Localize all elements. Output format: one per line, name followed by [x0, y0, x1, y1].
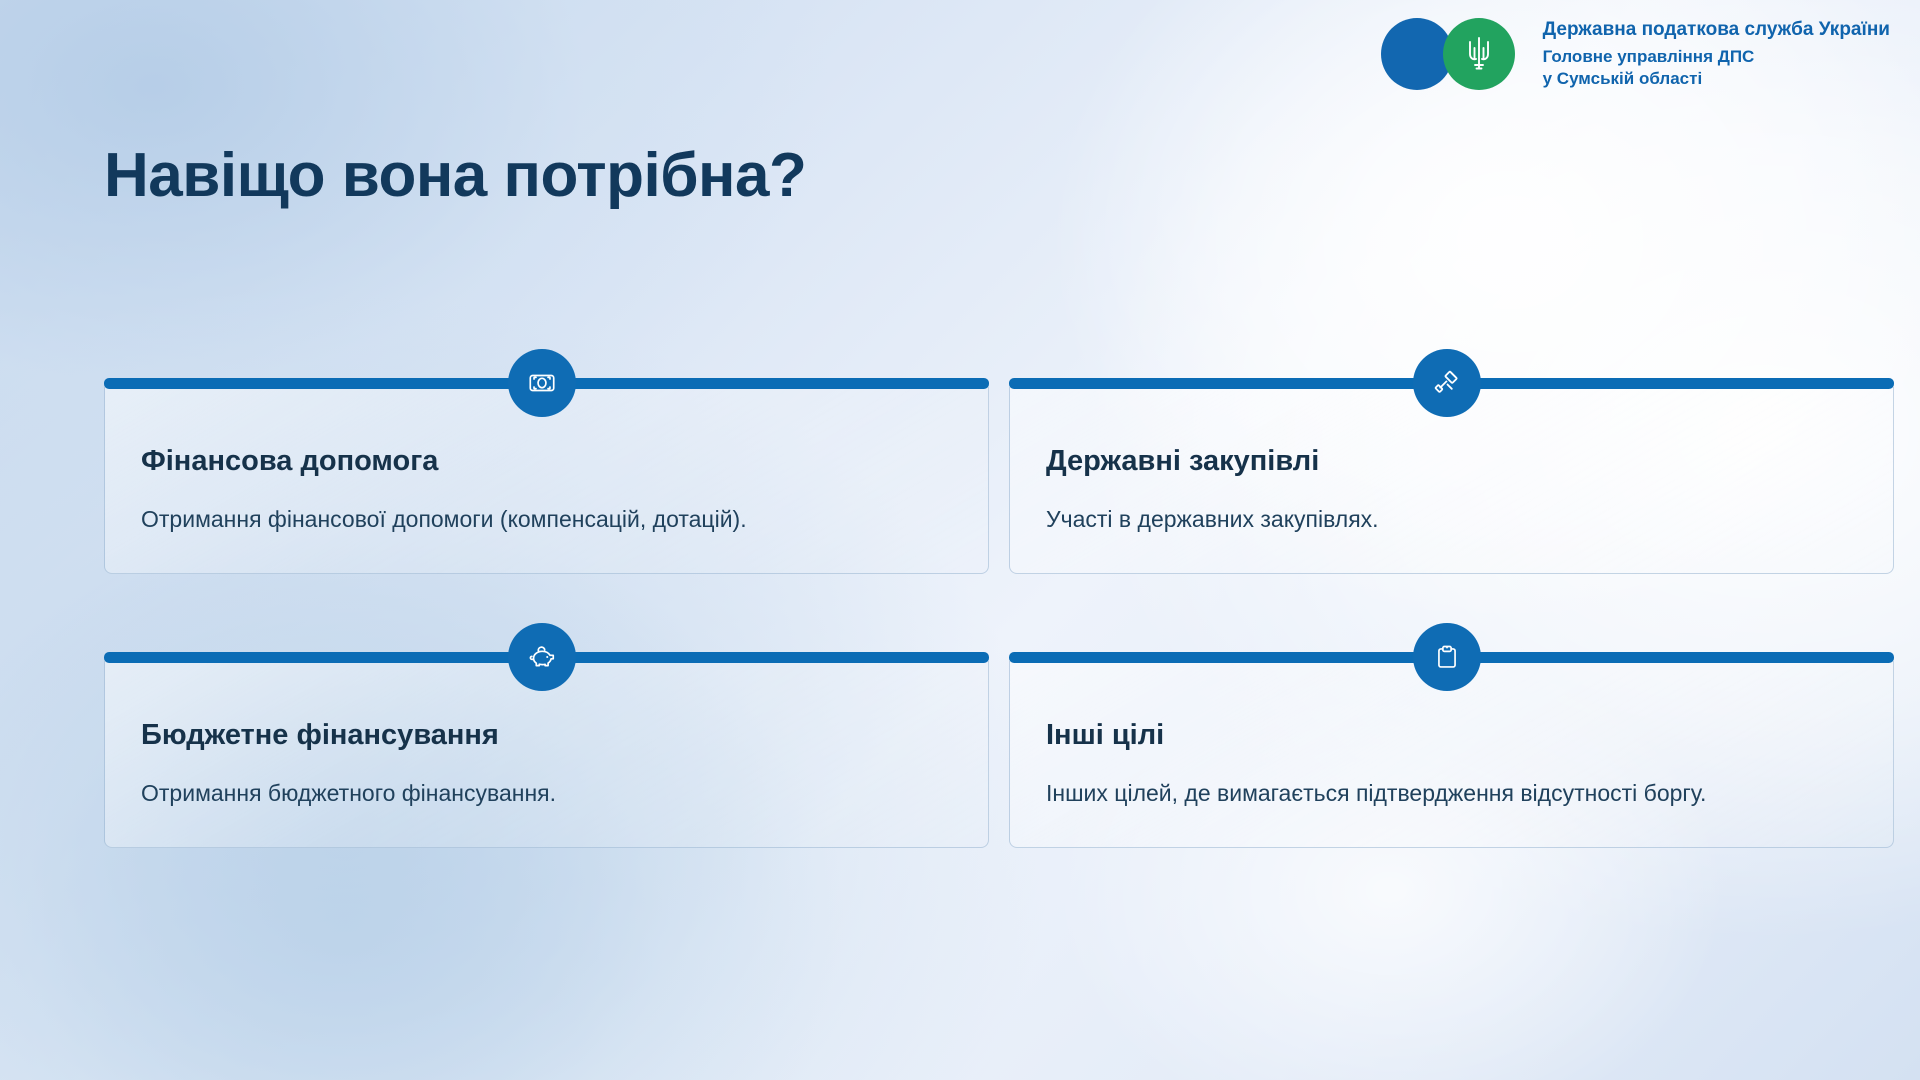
- gavel-icon: [1413, 349, 1481, 417]
- logo-marks: [1381, 18, 1531, 90]
- page-title: Навіщо вона потрібна?: [104, 140, 806, 211]
- card-description: Отримання фінансової допомоги (компенсац…: [141, 500, 941, 540]
- card-title: Фінансова допомога: [141, 445, 952, 478]
- cards-grid: Фінансова допомога Отримання фінансової …: [104, 378, 1894, 848]
- trident-icon: [1464, 34, 1494, 74]
- card-description: Інших цілей, де вимагається підтвердженн…: [1046, 774, 1846, 814]
- card-budget-financing[interactable]: Бюджетне фінансування Отримання бюджетно…: [104, 652, 989, 848]
- banknote-icon: [508, 349, 576, 417]
- clipboard-icon: [1413, 623, 1481, 691]
- logo-green-circle-icon: [1443, 18, 1515, 90]
- logo-blue-circle-icon: [1381, 18, 1453, 90]
- piggy-bank-icon: [508, 623, 576, 691]
- card-other-purposes[interactable]: Інші цілі Інших цілей, де вимагається пі…: [1009, 652, 1894, 848]
- organization-logo: Державна податкова служба України Головн…: [1381, 18, 1890, 90]
- card-description: Участі в державних закупівлях.: [1046, 500, 1846, 540]
- logo-text-block: Державна податкова служба України Головн…: [1543, 18, 1890, 90]
- logo-line-1: Державна податкова служба України: [1543, 18, 1890, 42]
- logo-line-3: у Сумській області: [1543, 68, 1890, 90]
- card-public-procurement[interactable]: Державні закупівлі Участі в державних за…: [1009, 378, 1894, 574]
- slide-root: Державна податкова служба України Головн…: [0, 0, 1920, 1080]
- card-financial-aid[interactable]: Фінансова допомога Отримання фінансової …: [104, 378, 989, 574]
- card-description: Отримання бюджетного фінансування.: [141, 774, 941, 814]
- card-title: Інші цілі: [1046, 719, 1857, 752]
- logo-line-2: Головне управління ДПС: [1543, 46, 1890, 68]
- card-title: Державні закупівлі: [1046, 445, 1857, 478]
- card-title: Бюджетне фінансування: [141, 719, 952, 752]
